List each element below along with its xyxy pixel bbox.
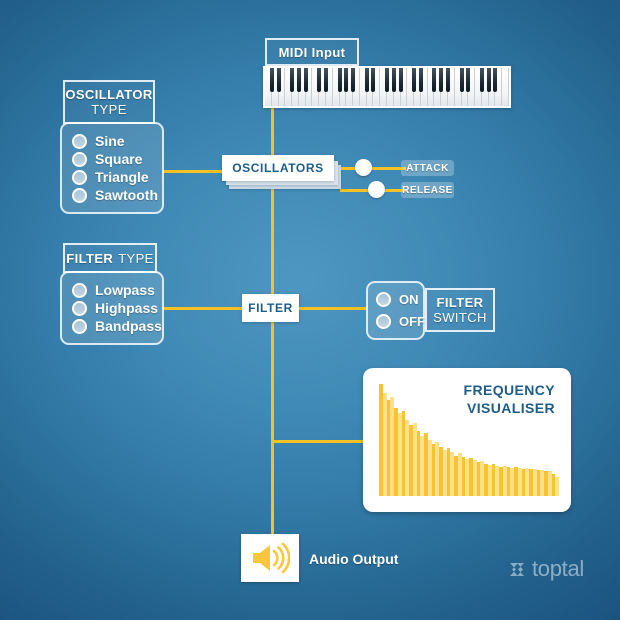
filter-switch-option-on[interactable]: ON <box>376 289 415 311</box>
piano-black-key[interactable] <box>324 68 328 92</box>
piano-white-key[interactable] <box>502 68 509 106</box>
audio-output-label: Audio Output <box>309 551 398 567</box>
filter-type-option-label: Highpass <box>95 300 158 316</box>
synth-signal-flow-diagram: MIDI Input OSCILLATOR TYPE SineSquareTri… <box>0 0 620 620</box>
piano-black-key[interactable] <box>419 68 423 92</box>
oscillator-type-option-label: Square <box>95 151 142 167</box>
midi-input-label: MIDI Input <box>279 45 346 60</box>
attack-label: ATTACK <box>406 163 449 174</box>
spectrum-bar <box>555 477 559 496</box>
oscillator-type-title: OSCILLATOR <box>65 87 152 102</box>
wire-attack-slider-track <box>340 167 406 170</box>
piano-black-key[interactable] <box>290 68 294 92</box>
piano-black-key[interactable] <box>338 68 342 92</box>
filter-node-label: FILTER <box>248 301 293 315</box>
piano-black-key[interactable] <box>344 68 348 92</box>
audio-output-icon[interactable] <box>241 534 299 582</box>
oscillator-type-option-label: Sine <box>95 133 125 149</box>
filter-type-title-row: FILTER TYPE <box>66 251 154 266</box>
radio-icon[interactable] <box>72 134 87 149</box>
wire-oscillators-to-filter <box>271 186 274 296</box>
midi-keyboard-icon[interactable] <box>263 66 511 108</box>
piano-black-key[interactable] <box>439 68 443 92</box>
radio-icon[interactable] <box>376 314 391 329</box>
filter-switch-subtitle: SWITCH <box>433 310 487 325</box>
filter-type-title: FILTER <box>66 251 113 266</box>
filter-type-option-highpass[interactable]: Highpass <box>72 299 152 317</box>
frequency-spectrum-bars <box>379 384 559 496</box>
piano-black-key[interactable] <box>412 68 416 92</box>
attack-button[interactable]: ATTACK <box>401 160 454 176</box>
piano-black-key[interactable] <box>399 68 403 92</box>
midi-input-caption: MIDI Input <box>265 38 359 66</box>
radio-icon[interactable] <box>72 301 87 316</box>
speaker-volume-icon <box>250 542 290 574</box>
piano-black-key[interactable] <box>365 68 369 92</box>
piano-black-key[interactable] <box>351 68 355 92</box>
radio-icon[interactable] <box>72 319 87 334</box>
radio-icon[interactable] <box>376 292 391 307</box>
wire-filter-to-output <box>271 322 274 538</box>
oscillator-type-option-sine[interactable]: Sine <box>72 132 152 150</box>
radio-icon[interactable] <box>72 188 87 203</box>
frequency-visualiser-panel: FREQUENCY VISUALISER <box>363 368 571 512</box>
oscillator-type-option-triangle[interactable]: Triangle <box>72 168 152 186</box>
piano-black-key[interactable] <box>460 68 464 92</box>
filter-switch-option-off[interactable]: OFF <box>376 311 415 333</box>
filter-switch-caption: FILTER SWITCH <box>425 288 495 332</box>
oscillators-node[interactable]: OSCILLATORS <box>222 155 334 181</box>
release-slider-knob[interactable] <box>368 181 385 198</box>
toptal-wordmark: toptal <box>532 556 584 582</box>
filter-type-panel: LowpassHighpassBandpass <box>60 271 164 345</box>
filter-switch-title: FILTER <box>437 295 484 310</box>
piano-black-key[interactable] <box>270 68 274 92</box>
piano-black-key[interactable] <box>371 68 375 92</box>
toptal-logo: toptal <box>508 556 584 582</box>
release-button[interactable]: RELEASE <box>401 182 454 198</box>
piano-black-key[interactable] <box>392 68 396 92</box>
piano-black-key[interactable] <box>304 68 308 92</box>
oscillator-type-option-sawtooth[interactable]: Sawtooth <box>72 186 152 204</box>
piano-black-key[interactable] <box>385 68 389 92</box>
filter-switch-panel: ONOFF <box>366 281 425 340</box>
piano-black-key[interactable] <box>277 68 281 92</box>
piano-black-key[interactable] <box>487 68 491 92</box>
radio-icon[interactable] <box>72 152 87 167</box>
oscillator-type-subtitle: TYPE <box>91 102 127 117</box>
filter-type-option-bandpass[interactable]: Bandpass <box>72 317 152 335</box>
piano-black-key[interactable] <box>446 68 450 92</box>
wire-trunk-to-visualiser <box>271 440 366 443</box>
piano-black-key[interactable] <box>466 68 470 92</box>
attack-slider-knob[interactable] <box>355 159 372 176</box>
wire-filter-type-to-filter <box>163 307 244 310</box>
filter-switch-option-label: ON <box>399 292 419 307</box>
filter-switch-option-label: OFF <box>399 314 425 329</box>
filter-type-subtitle: TYPE <box>118 251 154 266</box>
oscillator-type-option-label: Sawtooth <box>95 187 158 203</box>
filter-type-option-lowpass[interactable]: Lowpass <box>72 281 152 299</box>
oscillator-type-panel: SineSquareTriangleSawtooth <box>60 122 164 214</box>
piano-black-key[interactable] <box>297 68 301 92</box>
piano-black-key[interactable] <box>493 68 497 92</box>
filter-node[interactable]: FILTER <box>242 294 299 322</box>
radio-icon[interactable] <box>72 170 87 185</box>
piano-black-key[interactable] <box>317 68 321 92</box>
piano-black-key[interactable] <box>480 68 484 92</box>
filter-type-option-label: Bandpass <box>95 318 162 334</box>
oscillator-type-option-label: Triangle <box>95 169 149 185</box>
oscillators-node-label: OSCILLATORS <box>232 161 324 175</box>
filter-type-option-label: Lowpass <box>95 282 155 298</box>
release-label: RELEASE <box>402 185 453 196</box>
toptal-chevron-icon <box>508 560 527 579</box>
oscillator-type-caption: OSCILLATOR TYPE <box>63 80 155 124</box>
filter-type-caption: FILTER TYPE <box>63 243 157 273</box>
oscillator-type-option-square[interactable]: Square <box>72 150 152 168</box>
wire-filter-to-switch <box>297 307 367 310</box>
wire-osc-type-to-oscillators <box>163 170 225 173</box>
piano-black-key[interactable] <box>432 68 436 92</box>
radio-icon[interactable] <box>72 283 87 298</box>
